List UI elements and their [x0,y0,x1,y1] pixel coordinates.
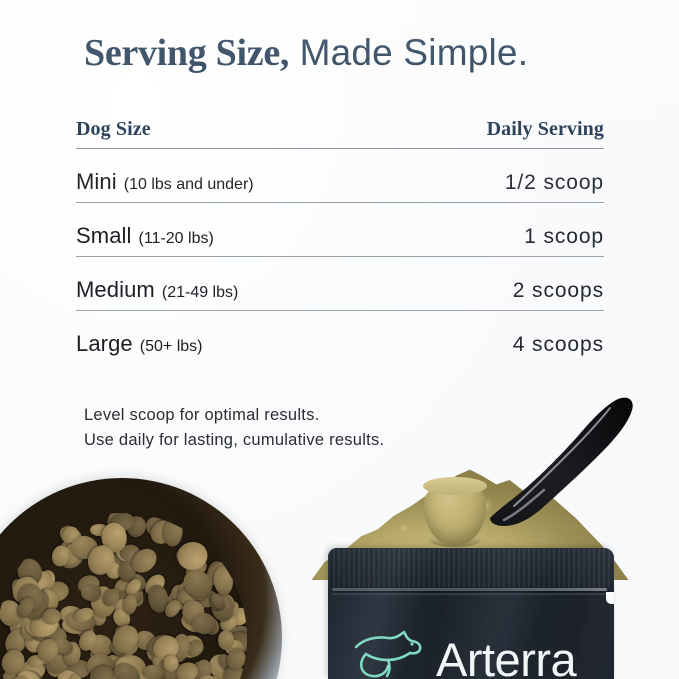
table-row: Small (11-20 lbs) 1 scoop [76,203,604,257]
usage-note-line-2: Use daily for lasting, cumulative result… [84,428,384,453]
brand-wordmark: Arterra [436,636,576,679]
dog-size-range: (10 lbs and under) [124,176,254,194]
dog-size-name: Medium [76,277,155,303]
dog-size-range: (11-20 lbs) [139,230,214,248]
dog-size-cell: Medium (21-49 lbs) [76,277,238,303]
dog-size-cell: Mini (10 lbs and under) [76,169,254,195]
dog-size-name: Large [76,331,133,357]
kibble-piece [80,584,100,601]
dog-size-cell: Large (50+ lbs) [76,331,202,357]
daily-serving-cell: 1 scoop [524,225,604,249]
usage-note-line-1: Level scoop for optimal results. [84,403,384,428]
product-bag: Arterra [328,548,614,679]
measuring-scoop-handle [486,396,636,526]
dog-size-range: (21-49 lbs) [162,284,238,302]
dog-logo-icon [350,627,426,679]
column-header-dog-size: Dog Size [76,118,151,141]
table-header-row: Dog Size Daily Serving [76,118,604,149]
dog-size-name: Small [76,223,132,249]
column-header-daily-serving: Daily Serving [487,118,604,141]
dog-size-range: (50+ lbs) [140,338,203,356]
daily-serving-cell: 1/2 scoop [505,171,604,195]
scoop-cup-rim [423,477,487,495]
page-title-bold: Serving Size, [84,32,289,74]
serving-size-table: Dog Size Daily Serving Mini (10 lbs and … [76,118,604,364]
brand-lockup: Arterra [350,627,576,679]
kibble-piece [218,630,234,650]
product-infographic: Serving Size, Made Simple. Dog Size Dail… [0,0,679,679]
kibble-piece [123,594,138,616]
dog-food-bowl [0,478,282,679]
kibble-piece [162,518,184,548]
table-row: Medium (21-49 lbs) 2 scoops [76,257,604,311]
usage-notes: Level scoop for optimal results. Use dai… [84,403,384,453]
dog-size-name: Mini [76,169,117,195]
daily-serving-cell: 2 scoops [513,279,604,303]
page-title: Serving Size, Made Simple. [84,34,528,72]
daily-serving-cell: 4 scoops [513,333,604,357]
table-row: Large (50+ lbs) 4 scoops [76,311,604,364]
page-title-light: Made Simple. [289,32,528,73]
table-row: Mini (10 lbs and under) 1/2 scoop [76,149,604,203]
dog-size-cell: Small (11-20 lbs) [76,223,214,249]
bowl-interior [0,513,247,679]
